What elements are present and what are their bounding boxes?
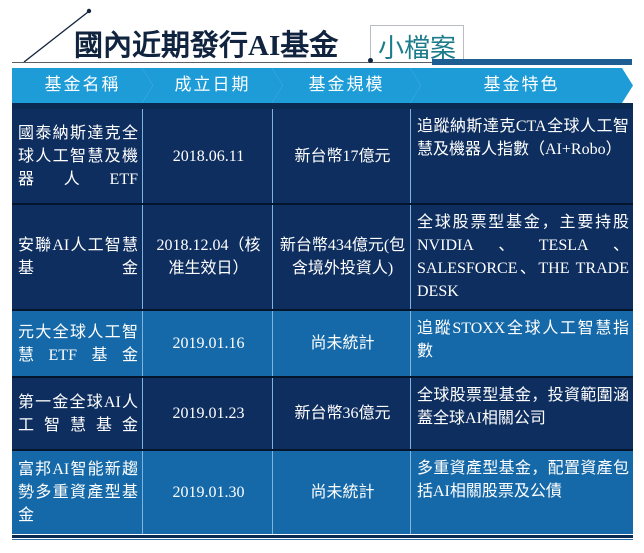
column-header-fund-name[interactable]: 基金名稱 <box>12 68 153 103</box>
cell-inception-date: 2018.12.04（核准生效日） <box>142 205 272 309</box>
title-rule-thin <box>12 62 472 63</box>
cell-fund-name: 安聯AI人工智慧基金 <box>12 205 142 309</box>
page-title: 國內近期發行AI基金 <box>74 22 338 64</box>
cell-fund-features: 全球股票型基金，投資範圍涵蓋全球AI相關公司 <box>410 378 633 449</box>
table-row[interactable]: 第一金全球AI人工智慧基金 2019.01.23 新台幣36億元 全球股票型基金… <box>12 376 633 449</box>
rule-endpoint-dot <box>368 58 373 63</box>
cell-fund-features: 多重資產型基金，配置資產包括AI相關股票及公債 <box>410 451 633 534</box>
cell-fund-name: 國泰納斯達克全球人工智慧及機器人ETF <box>12 109 142 203</box>
table-row[interactable]: 元大全球人工智慧ETF基金 2019.01.16 尚未統計 追蹤STOXX全球人… <box>12 309 633 376</box>
cell-fund-name: 元大全球人工智慧ETF基金 <box>12 311 142 376</box>
table-body: 國泰納斯達克全球人工智慧及機器人ETF 2018.06.11 新台幣17億元 追… <box>12 109 633 534</box>
table-header-row: 基金名稱 成立日期 基金規模 基金特色 <box>12 68 633 103</box>
cell-inception-date: 2019.01.23 <box>142 378 272 449</box>
cell-fund-size: 新台幣17億元 <box>272 109 410 203</box>
cell-fund-name: 富邦AI智能新趨勢多重資產型基金 <box>12 451 142 534</box>
column-header-fund-features[interactable]: 基金特色 <box>410 68 633 103</box>
table-row[interactable]: 富邦AI智能新趨勢多重資產型基金 2019.01.30 尚未統計 多重資產型基金… <box>12 449 633 534</box>
title-zone: 國內近期發行AI基金 小檔案 <box>0 0 644 70</box>
column-header-fund-size[interactable]: 基金規模 <box>272 68 421 103</box>
cell-fund-size: 新台幣434億元(包含境外投資人) <box>272 205 410 309</box>
cell-fund-name: 第一金全球AI人工智慧基金 <box>12 378 142 449</box>
cell-inception-date: 2019.01.30 <box>142 451 272 534</box>
cell-inception-date: 2019.01.16 <box>142 311 272 376</box>
title-rule-thick <box>432 59 632 65</box>
cell-fund-size: 新台幣36億元 <box>272 378 410 449</box>
column-header-inception-date[interactable]: 成立日期 <box>142 68 283 103</box>
cell-fund-size: 尚未統計 <box>272 311 410 376</box>
footer-rule-dark <box>12 535 633 538</box>
cell-fund-features: 追蹤STOXX全球人工智慧指數 <box>410 311 633 376</box>
cell-inception-date: 2018.06.11 <box>142 109 272 203</box>
table-row[interactable]: 安聯AI人工智慧基金 2018.12.04（核准生效日） 新台幣434億元(包含… <box>12 203 633 309</box>
cell-fund-features: 追蹤納斯達克CTA全球人工智慧及機器人指數（AI+Robo） <box>410 109 633 203</box>
table-row[interactable]: 國泰納斯達克全球人工智慧及機器人ETF 2018.06.11 新台幣17億元 追… <box>12 109 633 203</box>
cell-fund-features: 全球股票型基金，主要持股NVIDIA、TESLA、SALESFORCE、THE … <box>410 205 633 309</box>
cell-fund-size: 尚未統計 <box>272 451 410 534</box>
fund-table: 基金名稱 成立日期 基金規模 基金特色 國泰納斯達克全球人工智慧及機器人ETF … <box>12 68 633 534</box>
footer-rule-light <box>12 539 633 540</box>
